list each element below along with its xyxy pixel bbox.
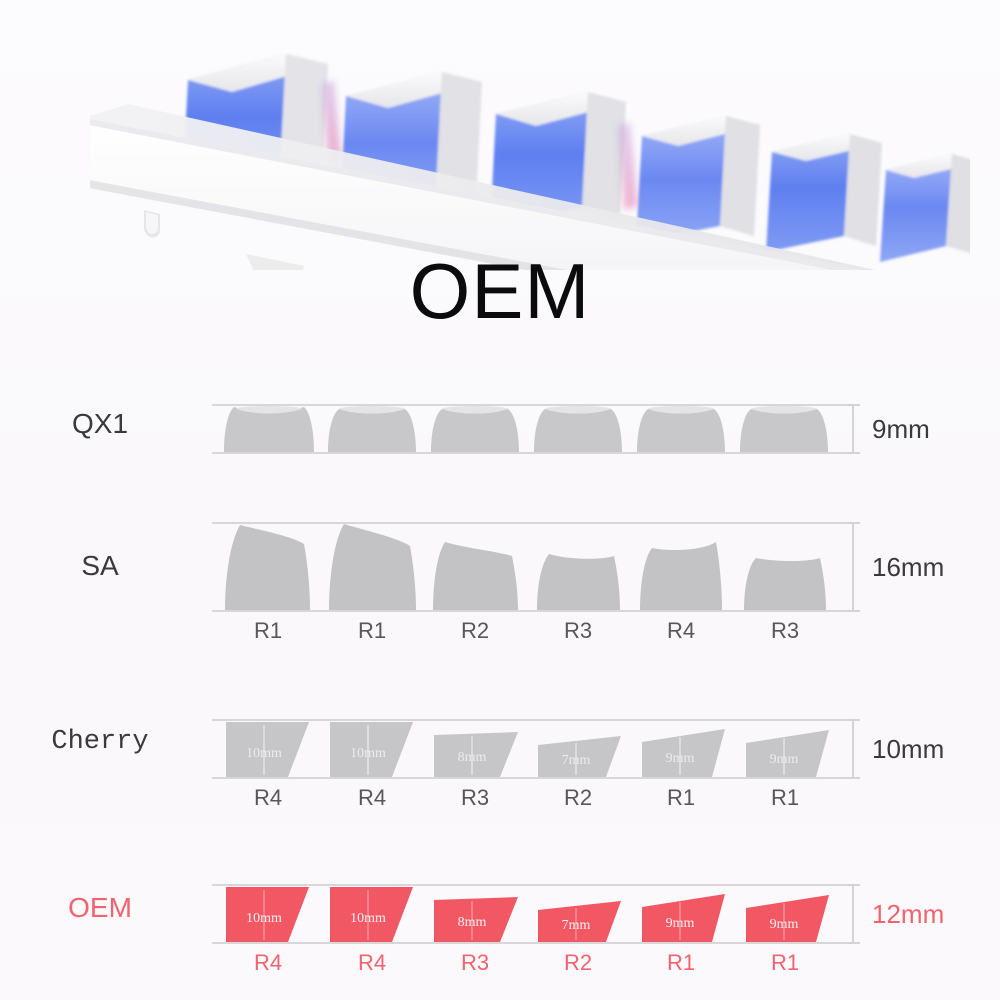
profile-name-qx1: QX1	[0, 408, 200, 440]
keycap-inner-label: 9mm	[666, 916, 695, 931]
row-label: R2	[528, 950, 628, 976]
dim-bar	[852, 719, 854, 777]
profile-name-oem: OEM	[0, 892, 200, 924]
keycap-inner-label: 7mm	[562, 918, 591, 933]
keycap-inner-label: 10mm	[350, 911, 386, 926]
row-label: R4	[322, 785, 422, 811]
dim-cap-bottom	[846, 777, 860, 779]
profile-name-cherry: Cherry	[0, 727, 200, 757]
keycap-inner-label: 9mm	[666, 751, 695, 766]
oem-keycap-silhouettes: 10mm 10mm 8mm 7mm 9mm 9mm	[212, 870, 846, 954]
dimension-value-oem: 12mm	[872, 899, 944, 930]
profile-plot-qx1	[212, 388, 846, 456]
keycap-inner-label: 10mm	[246, 911, 282, 926]
sa-keycap-silhouettes	[212, 508, 846, 618]
row-label: R4	[322, 950, 422, 976]
qx1-keycap-silhouettes	[212, 388, 846, 468]
dim-bar	[852, 404, 854, 452]
cherry-keycap-silhouettes: 10mm 10mm 8mm 7mm 9mm 9mm	[212, 705, 846, 789]
keyboard-product-photo	[90, 18, 970, 270]
dimension-oem: 12mm	[846, 870, 996, 946]
row-label: R3	[425, 950, 525, 976]
keycap-inner-label: 9mm	[770, 917, 799, 932]
dimension-value-sa: 16mm	[872, 552, 944, 583]
hero-section: OEM	[0, 0, 1000, 360]
row-labels-cherry: R4 R4 R3 R2 R1 R1	[212, 785, 846, 815]
dim-bar	[852, 884, 854, 942]
profile-name-sa: SA	[0, 550, 200, 582]
dimension-qx1: 9mm	[846, 388, 996, 456]
dim-bar	[852, 522, 854, 610]
row-label: R1	[735, 950, 835, 976]
dim-cap-bottom	[846, 610, 860, 612]
row-label: R3	[735, 618, 835, 644]
dim-cap-bottom	[846, 452, 860, 454]
profile-plot-cherry: 10mm 10mm 8mm 7mm 9mm 9mm	[212, 705, 846, 781]
row-label: R4	[631, 618, 731, 644]
page-background: OEM QX1	[0, 0, 1000, 1000]
profile-plot-oem: 10mm 10mm 8mm 7mm 9mm 9mm	[212, 870, 846, 946]
row-labels-oem: R4 R4 R3 R2 R1 R1	[212, 950, 846, 980]
profile-row-cherry: Cherry	[0, 705, 1000, 825]
row-label: R1	[631, 950, 731, 976]
profile-row-qx1: QX1	[0, 388, 1000, 488]
dimension-sa: 16mm	[846, 508, 996, 613]
dim-cap-bottom	[846, 942, 860, 944]
profile-row-oem: OEM	[0, 870, 1000, 990]
page-title: OEM	[0, 252, 1000, 330]
row-label: R1	[218, 618, 318, 644]
keycap-inner-label: 8mm	[458, 750, 487, 765]
profile-plot-sa	[212, 508, 846, 613]
row-label: R4	[218, 785, 318, 811]
row-label: R2	[425, 618, 525, 644]
dimension-value-qx1: 9mm	[872, 414, 930, 445]
keycap-inner-label: 10mm	[350, 746, 386, 761]
row-labels-sa: R1 R1 R2 R3 R4 R3	[212, 618, 846, 648]
row-label: R1	[631, 785, 731, 811]
row-label: R1	[322, 618, 422, 644]
row-label: R3	[425, 785, 525, 811]
row-label: R3	[528, 618, 628, 644]
dimension-value-cherry: 10mm	[872, 734, 944, 765]
row-label: R4	[218, 950, 318, 976]
profile-row-sa: SA	[0, 508, 1000, 643]
row-label: R2	[528, 785, 628, 811]
row-label: R1	[735, 785, 835, 811]
keycap-profile-comparison-chart: QX1	[0, 360, 1000, 1000]
keycap-inner-label: 8mm	[458, 915, 487, 930]
dimension-cherry: 10mm	[846, 705, 996, 781]
keycap-inner-label: 9mm	[770, 752, 799, 767]
keycap-inner-label: 7mm	[562, 753, 591, 768]
keycap-inner-label: 10mm	[246, 746, 282, 761]
